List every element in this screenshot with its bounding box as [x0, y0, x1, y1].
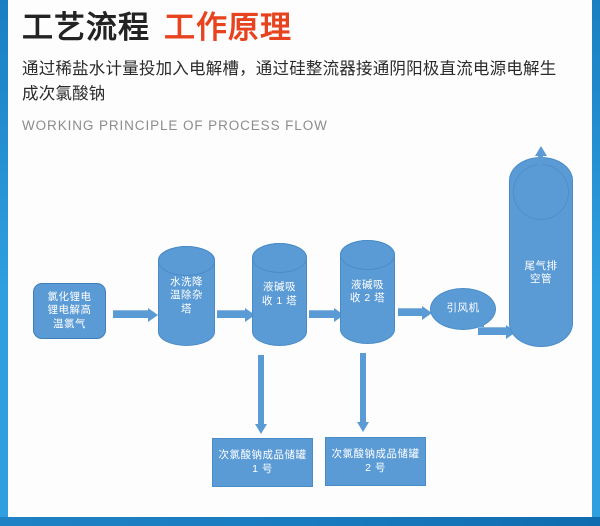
process-flow-diagram: 氯化锂电 锂电解高 温氯气 水洗降 温除杂 塔 液碱吸 收 1 塔 液碱吸 收 … [0, 0, 600, 526]
node-water-wash-tower-label: 水洗降 温除杂 塔 [170, 276, 203, 316]
arrow-fan-to-vent-pipe [478, 327, 507, 335]
arrow-vent-to-atmosphere [538, 155, 543, 203]
node-induced-draft-fan-label: 引风机 [447, 302, 480, 315]
node-induced-draft-fan[interactable]: 引风机 [430, 288, 496, 330]
node-alkali-absorber-1-label: 液碱吸 收 1 塔 [262, 281, 297, 308]
node-exhaust-vent-pipe-label: 尾气排 空管 [525, 260, 558, 287]
node-product-tank-2-label: 次氯酸钠成品储罐 2 号 [332, 448, 420, 475]
node-product-tank-2[interactable]: 次氯酸钠成品储罐 2 号 [325, 437, 426, 486]
arrow-absorber-1-to-tank-1 [258, 355, 264, 425]
node-alkali-absorber-2-label: 液碱吸 收 2 塔 [350, 279, 385, 306]
arrow-absorber-1-to-absorber-2 [309, 310, 335, 318]
node-source-chlorine[interactable]: 氯化锂电 锂电解高 温氯气 [33, 283, 106, 339]
node-product-tank-1-label: 次氯酸钠成品储罐 1 号 [219, 449, 307, 476]
arrow-wash-tower-to-absorber-1 [217, 310, 246, 318]
arrow-source-to-wash-tower [113, 310, 149, 318]
process-flow-poster: 工艺流程工作原理 通过稀盐水计量投加入电解槽，通过硅整流器接通阴阳极直流电源电解… [0, 0, 600, 526]
arrow-absorber-2-to-tank-2 [360, 353, 366, 423]
arrow-absorber-2-to-fan [398, 308, 423, 316]
node-source-chlorine-label: 氯化锂电 锂电解高 温氯气 [48, 291, 92, 331]
node-alkali-absorber-1[interactable]: 液碱吸 收 1 塔 [252, 243, 307, 346]
node-product-tank-1[interactable]: 次氯酸钠成品储罐 1 号 [212, 438, 313, 487]
node-water-wash-tower[interactable]: 水洗降 温除杂 塔 [158, 246, 215, 346]
cylinder-cap [340, 240, 395, 270]
cylinder-cap [158, 246, 215, 276]
node-alkali-absorber-2[interactable]: 液碱吸 收 2 塔 [340, 240, 395, 344]
cylinder-cap [252, 243, 307, 273]
